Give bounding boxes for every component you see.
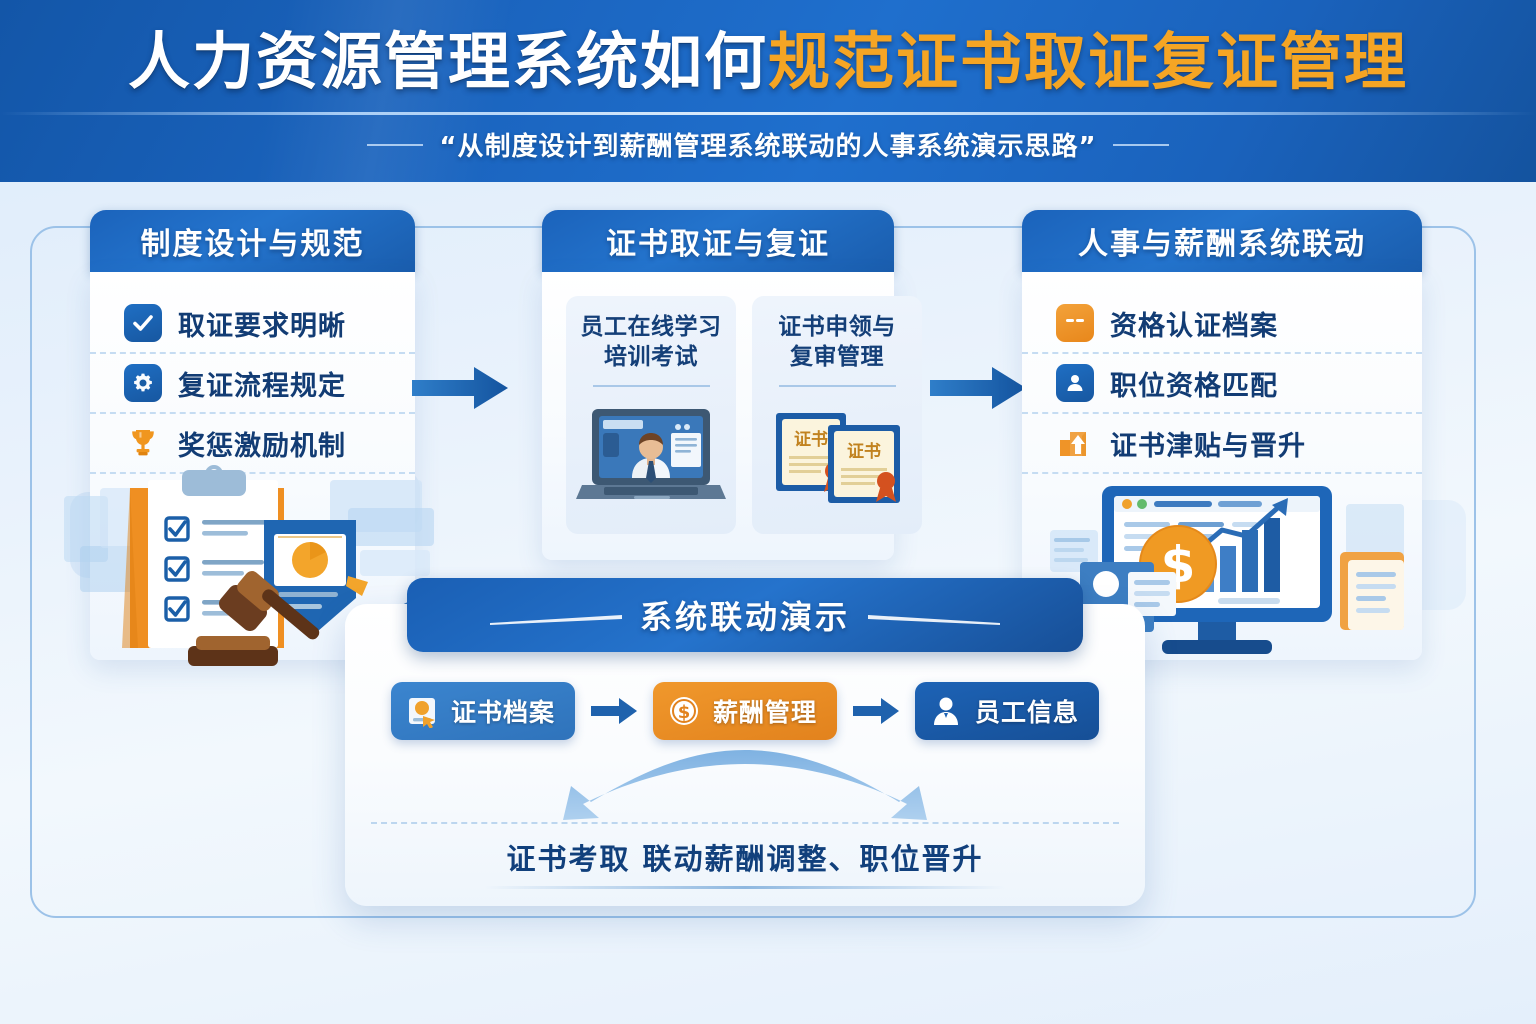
certificate-archive-icon xyxy=(405,694,439,728)
swoosh-left-icon xyxy=(490,610,622,620)
column-policy-header: 制度设计与规范 xyxy=(90,210,415,272)
list-item-label: 职位资格匹配 xyxy=(1110,364,1278,403)
chip-payroll-label: 薪酬管理 xyxy=(713,693,817,729)
svg-text:证书: 证书 xyxy=(847,442,881,462)
list-item[interactable]: 职位资格匹配 xyxy=(1022,354,1422,414)
chip-cert-archive-label: 证书档案 xyxy=(451,693,555,729)
subtitle-rule-left xyxy=(367,144,423,146)
laptop-learning-illustration xyxy=(576,393,726,522)
chip-payroll[interactable]: $ 薪酬管理 xyxy=(653,682,837,740)
page-header: 人力资源管理系统如何规范证书取证复证管理 “从制度设计到薪酬管理系统联动的人事系… xyxy=(0,0,1536,182)
page-subtitle: “从制度设计到薪酬管理系统联动的人事系统演示思路” xyxy=(439,126,1096,163)
list-item-label: 复证流程规定 xyxy=(178,364,346,403)
title-primary: 人力资源管理系统如何 xyxy=(128,25,768,98)
flow-arrow-2-icon xyxy=(930,363,1026,413)
list-item[interactable]: 复证流程规定 xyxy=(90,354,415,414)
swoosh-right-icon xyxy=(868,610,1000,620)
check-icon xyxy=(124,304,162,342)
policy-list: 取证要求明晰 复证流程规定 xyxy=(90,272,415,478)
column-certificate: 证书取证与复证 员工在线学习 培训考试 xyxy=(542,210,894,560)
subcard-apply-title-line1: 证书申领与 xyxy=(778,312,896,342)
person-icon xyxy=(1056,364,1094,402)
subtitle-rule-right xyxy=(1113,144,1169,146)
title-accent: 规范证书取证复证管理 xyxy=(768,25,1408,98)
list-item-label: 资格认证档案 xyxy=(1110,304,1278,343)
subcard-training[interactable]: 员工在线学习 培训考试 xyxy=(566,296,736,534)
hr-payroll-list: 资格认证档案 职位资格匹配 xyxy=(1022,272,1422,478)
chip-employee[interactable]: 员工信息 xyxy=(915,682,1099,740)
panel-caption: 证书考取 联动薪酬调整、职位晋升 xyxy=(345,836,1145,878)
list-item-label: 证书津贴与晋升 xyxy=(1110,424,1306,463)
employee-icon xyxy=(929,694,963,728)
subcard-training-title-line2: 培训考试 xyxy=(604,342,698,372)
column-hr-payroll-title: 人事与薪酬系统联动 xyxy=(1078,219,1366,263)
list-item-label: 奖惩激励机制 xyxy=(178,424,346,463)
page-title: 人力资源管理系统如何规范证书取证复证管理 xyxy=(0,26,1536,97)
flow-arrow-1-icon xyxy=(412,363,508,413)
column-certificate-body: 员工在线学习 培训考试 xyxy=(542,272,894,560)
certificates-illustration: 证书 证书 xyxy=(762,393,912,522)
column-hr-payroll-header: 人事与薪酬系统联动 xyxy=(1022,210,1422,272)
flow-arrow-a-icon xyxy=(591,696,637,726)
subcard-divider xyxy=(779,385,896,387)
column-policy-title: 制度设计与规范 xyxy=(141,219,365,263)
list-item[interactable]: 证书津贴与晋升 xyxy=(1022,414,1422,474)
system-demo-panel-header: 系统联动演示 xyxy=(407,578,1083,652)
chip-employee-label: 员工信息 xyxy=(975,693,1079,729)
feedback-loop-arrows-icon xyxy=(385,744,1105,820)
caption-divider-top xyxy=(371,822,1119,824)
subcard-apply-title-line2: 复审管理 xyxy=(790,342,884,372)
caption-divider-bottom xyxy=(485,886,1005,889)
column-certificate-title: 证书取证与复证 xyxy=(606,219,830,263)
subcard-divider xyxy=(593,385,710,387)
promotion-icon xyxy=(1056,424,1094,462)
chip-cert-archive[interactable]: 证书档案 xyxy=(391,682,575,740)
subtitle-row: “从制度设计到薪酬管理系统联动的人事系统演示思路” xyxy=(0,126,1536,163)
list-item-label: 取证要求明晰 xyxy=(178,304,346,343)
subcard-apply[interactable]: 证书申领与 复审管理 证书 证书 xyxy=(752,296,922,534)
system-demo-panel-title: 系统联动演示 xyxy=(640,592,850,638)
dollar-coin-icon: $ xyxy=(667,694,701,728)
svg-text:证书: 证书 xyxy=(794,430,828,450)
system-flow: 证书档案 $ 薪酬管理 xyxy=(345,682,1145,740)
list-item[interactable]: 取证要求明晰 xyxy=(90,294,415,354)
certificate-subcards: 员工在线学习 培训考试 xyxy=(548,278,888,554)
svg-text:$: $ xyxy=(678,702,691,723)
subcard-training-title-line1: 员工在线学习 xyxy=(581,312,722,342)
trophy-icon xyxy=(124,424,162,462)
flow-arrow-b-icon xyxy=(853,696,899,726)
column-certificate-header: 证书取证与复证 xyxy=(542,210,894,272)
id-card-icon xyxy=(1056,304,1094,342)
system-demo-panel: 系统联动演示 证书档案 xyxy=(345,604,1145,906)
gear-icon xyxy=(124,364,162,402)
list-item[interactable]: 资格认证档案 xyxy=(1022,294,1422,354)
